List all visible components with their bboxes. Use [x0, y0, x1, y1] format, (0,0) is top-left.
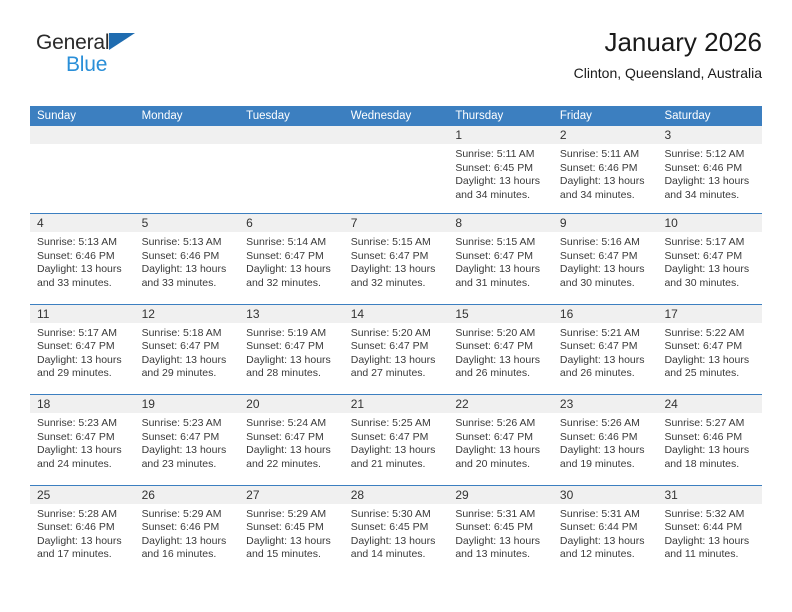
sunset-text: Sunset: 6:47 PM: [664, 340, 756, 354]
daylight-text-line2: and 12 minutes.: [560, 548, 652, 562]
day-number: 25: [30, 486, 135, 504]
week-row: 18Sunrise: 5:23 AMSunset: 6:47 PMDayligh…: [30, 394, 762, 485]
day-number-band: 14: [344, 305, 449, 323]
sunrise-text: Sunrise: 5:18 AM: [142, 327, 234, 341]
day-cell[interactable]: 8Sunrise: 5:15 AMSunset: 6:47 PMDaylight…: [448, 214, 553, 304]
sunrise-text: Sunrise: 5:28 AM: [37, 508, 129, 522]
day-number-band: 11: [30, 305, 135, 323]
day-cell[interactable]: 7Sunrise: 5:15 AMSunset: 6:47 PMDaylight…: [344, 214, 449, 304]
sunrise-text: Sunrise: 5:29 AM: [246, 508, 338, 522]
daylight-text-line1: Daylight: 13 hours: [246, 263, 338, 277]
sunset-text: Sunset: 6:47 PM: [455, 431, 547, 445]
day-details: Sunrise: 5:31 AMSunset: 6:44 PMDaylight:…: [553, 504, 658, 562]
sunrise-text: Sunrise: 5:13 AM: [37, 236, 129, 250]
day-number-band: 25: [30, 486, 135, 504]
sunset-text: Sunset: 6:46 PM: [142, 250, 234, 264]
day-cell[interactable]: 18Sunrise: 5:23 AMSunset: 6:47 PMDayligh…: [30, 395, 135, 485]
day-details: Sunrise: 5:11 AMSunset: 6:46 PMDaylight:…: [553, 144, 658, 202]
day-cell[interactable]: 15Sunrise: 5:20 AMSunset: 6:47 PMDayligh…: [448, 305, 553, 395]
sunrise-text: Sunrise: 5:23 AM: [142, 417, 234, 431]
daylight-text-line2: and 24 minutes.: [37, 458, 129, 472]
daylight-text-line2: and 31 minutes.: [455, 277, 547, 291]
day-number: 2: [553, 126, 658, 144]
daylight-text-line2: and 27 minutes.: [351, 367, 443, 381]
day-details: Sunrise: 5:14 AMSunset: 6:47 PMDaylight:…: [239, 232, 344, 290]
daylight-text-line1: Daylight: 13 hours: [455, 175, 547, 189]
sunset-text: Sunset: 6:47 PM: [142, 431, 234, 445]
sunset-text: Sunset: 6:47 PM: [351, 431, 443, 445]
day-cell[interactable]: 5Sunrise: 5:13 AMSunset: 6:46 PMDaylight…: [135, 214, 240, 304]
daylight-text-line1: Daylight: 13 hours: [246, 354, 338, 368]
day-cell[interactable]: 29Sunrise: 5:31 AMSunset: 6:45 PMDayligh…: [448, 486, 553, 576]
day-details: Sunrise: 5:30 AMSunset: 6:45 PMDaylight:…: [344, 504, 449, 562]
dow-monday: Monday: [135, 106, 240, 126]
daylight-text-line1: Daylight: 13 hours: [560, 175, 652, 189]
sunset-text: Sunset: 6:44 PM: [560, 521, 652, 535]
day-details: Sunrise: 5:20 AMSunset: 6:47 PMDaylight:…: [448, 323, 553, 381]
day-details: Sunrise: 5:17 AMSunset: 6:47 PMDaylight:…: [657, 232, 762, 290]
day-number: 14: [344, 305, 449, 323]
daylight-text-line1: Daylight: 13 hours: [351, 263, 443, 277]
daylight-text-line1: Daylight: 13 hours: [142, 354, 234, 368]
day-cell[interactable]: 21Sunrise: 5:25 AMSunset: 6:47 PMDayligh…: [344, 395, 449, 485]
day-details: Sunrise: 5:19 AMSunset: 6:47 PMDaylight:…: [239, 323, 344, 381]
sunrise-text: Sunrise: 5:15 AM: [351, 236, 443, 250]
day-number: 10: [657, 214, 762, 232]
day-details: Sunrise: 5:25 AMSunset: 6:47 PMDaylight:…: [344, 413, 449, 471]
day-number-band: 9: [553, 214, 658, 232]
day-number-band: 19: [135, 395, 240, 413]
day-number-band: 30: [553, 486, 658, 504]
day-number-band: 4: [30, 214, 135, 232]
daylight-text-line2: and 30 minutes.: [664, 277, 756, 291]
day-cell[interactable]: 3Sunrise: 5:12 AMSunset: 6:46 PMDaylight…: [657, 126, 762, 213]
day-cell[interactable]: 22Sunrise: 5:26 AMSunset: 6:47 PMDayligh…: [448, 395, 553, 485]
day-cell[interactable]: 17Sunrise: 5:22 AMSunset: 6:47 PMDayligh…: [657, 305, 762, 395]
day-cell[interactable]: 23Sunrise: 5:26 AMSunset: 6:46 PMDayligh…: [553, 395, 658, 485]
sunrise-text: Sunrise: 5:26 AM: [560, 417, 652, 431]
sunrise-text: Sunrise: 5:20 AM: [351, 327, 443, 341]
day-number-band: 31: [657, 486, 762, 504]
day-cell[interactable]: 19Sunrise: 5:23 AMSunset: 6:47 PMDayligh…: [135, 395, 240, 485]
daylight-text-line1: Daylight: 13 hours: [351, 444, 443, 458]
day-number: 5: [135, 214, 240, 232]
day-number: 4: [30, 214, 135, 232]
day-number-band: 13: [239, 305, 344, 323]
sunrise-text: Sunrise: 5:30 AM: [351, 508, 443, 522]
day-number: 21: [344, 395, 449, 413]
day-number-band: [344, 126, 449, 144]
daylight-text-line1: Daylight: 13 hours: [142, 535, 234, 549]
day-number: 12: [135, 305, 240, 323]
day-details: Sunrise: 5:20 AMSunset: 6:47 PMDaylight:…: [344, 323, 449, 381]
day-cell[interactable]: 9Sunrise: 5:16 AMSunset: 6:47 PMDaylight…: [553, 214, 658, 304]
day-number: 23: [553, 395, 658, 413]
sunset-text: Sunset: 6:46 PM: [560, 162, 652, 176]
sunrise-text: Sunrise: 5:19 AM: [246, 327, 338, 341]
daylight-text-line2: and 29 minutes.: [37, 367, 129, 381]
day-details: Sunrise: 5:22 AMSunset: 6:47 PMDaylight:…: [657, 323, 762, 381]
sunset-text: Sunset: 6:45 PM: [455, 162, 547, 176]
sunset-text: Sunset: 6:45 PM: [246, 521, 338, 535]
daylight-text-line2: and 32 minutes.: [246, 277, 338, 291]
sunrise-text: Sunrise: 5:32 AM: [664, 508, 756, 522]
day-details: Sunrise: 5:15 AMSunset: 6:47 PMDaylight:…: [448, 232, 553, 290]
sunrise-text: Sunrise: 5:11 AM: [560, 148, 652, 162]
sunrise-text: Sunrise: 5:17 AM: [37, 327, 129, 341]
day-number: 15: [448, 305, 553, 323]
sunset-text: Sunset: 6:46 PM: [37, 521, 129, 535]
sunrise-text: Sunrise: 5:21 AM: [560, 327, 652, 341]
day-cell-empty: [239, 126, 344, 213]
sunset-text: Sunset: 6:46 PM: [560, 431, 652, 445]
day-cell[interactable]: 16Sunrise: 5:21 AMSunset: 6:47 PMDayligh…: [553, 305, 658, 395]
sunrise-text: Sunrise: 5:16 AM: [560, 236, 652, 250]
day-number: 8: [448, 214, 553, 232]
sunset-text: Sunset: 6:47 PM: [664, 250, 756, 264]
week-row: 25Sunrise: 5:28 AMSunset: 6:46 PMDayligh…: [30, 485, 762, 576]
logo-triangle-icon: [109, 33, 135, 50]
day-details: Sunrise: 5:26 AMSunset: 6:47 PMDaylight:…: [448, 413, 553, 471]
day-number: 6: [239, 214, 344, 232]
daylight-text-line1: Daylight: 13 hours: [142, 263, 234, 277]
sunrise-text: Sunrise: 5:17 AM: [664, 236, 756, 250]
sunrise-text: Sunrise: 5:11 AM: [455, 148, 547, 162]
day-cell[interactable]: 27Sunrise: 5:29 AMSunset: 6:45 PMDayligh…: [239, 486, 344, 576]
day-details: Sunrise: 5:18 AMSunset: 6:47 PMDaylight:…: [135, 323, 240, 381]
sunrise-text: Sunrise: 5:26 AM: [455, 417, 547, 431]
daylight-text-line1: Daylight: 13 hours: [664, 444, 756, 458]
sunrise-text: Sunrise: 5:25 AM: [351, 417, 443, 431]
daylight-text-line1: Daylight: 13 hours: [37, 263, 129, 277]
day-details: Sunrise: 5:11 AMSunset: 6:45 PMDaylight:…: [448, 144, 553, 202]
day-cell[interactable]: 12Sunrise: 5:18 AMSunset: 6:47 PMDayligh…: [135, 305, 240, 395]
daylight-text-line1: Daylight: 13 hours: [455, 535, 547, 549]
sunrise-text: Sunrise: 5:27 AM: [664, 417, 756, 431]
sunset-text: Sunset: 6:47 PM: [37, 431, 129, 445]
day-details: Sunrise: 5:15 AMSunset: 6:47 PMDaylight:…: [344, 232, 449, 290]
sunset-text: Sunset: 6:47 PM: [560, 340, 652, 354]
day-number-band: 1: [448, 126, 553, 144]
daylight-text-line1: Daylight: 13 hours: [560, 535, 652, 549]
day-number-band: 26: [135, 486, 240, 504]
daylight-text-line2: and 29 minutes.: [142, 367, 234, 381]
day-cell[interactable]: 28Sunrise: 5:30 AMSunset: 6:45 PMDayligh…: [344, 486, 449, 576]
day-details: Sunrise: 5:31 AMSunset: 6:45 PMDaylight:…: [448, 504, 553, 562]
location-subtitle: Clinton, Queensland, Australia: [574, 64, 762, 83]
day-cell[interactable]: 13Sunrise: 5:19 AMSunset: 6:47 PMDayligh…: [239, 305, 344, 395]
daylight-text-line2: and 16 minutes.: [142, 548, 234, 562]
daylight-text-line1: Daylight: 13 hours: [560, 263, 652, 277]
day-cell[interactable]: 25Sunrise: 5:28 AMSunset: 6:46 PMDayligh…: [30, 486, 135, 576]
day-details: Sunrise: 5:29 AMSunset: 6:45 PMDaylight:…: [239, 504, 344, 562]
day-of-week-header: Sunday Monday Tuesday Wednesday Thursday…: [30, 106, 762, 126]
dow-wednesday: Wednesday: [344, 106, 449, 126]
day-number: 27: [239, 486, 344, 504]
sunset-text: Sunset: 6:47 PM: [351, 250, 443, 264]
day-details: Sunrise: 5:32 AMSunset: 6:44 PMDaylight:…: [657, 504, 762, 562]
daylight-text-line2: and 30 minutes.: [560, 277, 652, 291]
daylight-text-line2: and 21 minutes.: [351, 458, 443, 472]
daylight-text-line1: Daylight: 13 hours: [664, 175, 756, 189]
sunset-text: Sunset: 6:47 PM: [246, 340, 338, 354]
daylight-text-line2: and 32 minutes.: [351, 277, 443, 291]
daylight-text-line2: and 13 minutes.: [455, 548, 547, 562]
day-number: 13: [239, 305, 344, 323]
daylight-text-line2: and 18 minutes.: [664, 458, 756, 472]
day-cell[interactable]: 11Sunrise: 5:17 AMSunset: 6:47 PMDayligh…: [30, 305, 135, 395]
sunrise-text: Sunrise: 5:31 AM: [455, 508, 547, 522]
day-number-band: 12: [135, 305, 240, 323]
daylight-text-line2: and 34 minutes.: [664, 189, 756, 203]
day-number-band: 21: [344, 395, 449, 413]
sunset-text: Sunset: 6:47 PM: [560, 250, 652, 264]
daylight-text-line1: Daylight: 13 hours: [560, 354, 652, 368]
day-number-band: 16: [553, 305, 658, 323]
day-number: 3: [657, 126, 762, 144]
day-number-band: 20: [239, 395, 344, 413]
daylight-text-line1: Daylight: 13 hours: [664, 354, 756, 368]
day-number: 9: [553, 214, 658, 232]
day-number-band: 18: [30, 395, 135, 413]
day-cell-empty: [135, 126, 240, 213]
day-number: 11: [30, 305, 135, 323]
day-number-band: 7: [344, 214, 449, 232]
week-row: 11Sunrise: 5:17 AMSunset: 6:47 PMDayligh…: [30, 304, 762, 395]
daylight-text-line1: Daylight: 13 hours: [560, 444, 652, 458]
day-details: Sunrise: 5:26 AMSunset: 6:46 PMDaylight:…: [553, 413, 658, 471]
daylight-text-line2: and 26 minutes.: [560, 367, 652, 381]
sunset-text: Sunset: 6:45 PM: [455, 521, 547, 535]
day-number-band: 3: [657, 126, 762, 144]
daylight-text-line2: and 26 minutes.: [455, 367, 547, 381]
daylight-text-line1: Daylight: 13 hours: [37, 444, 129, 458]
daylight-text-line1: Daylight: 13 hours: [455, 263, 547, 277]
title-block: January 2026 Clinton, Queensland, Austra…: [574, 26, 762, 83]
sunrise-text: Sunrise: 5:22 AM: [664, 327, 756, 341]
sunset-text: Sunset: 6:46 PM: [664, 431, 756, 445]
daylight-text-line1: Daylight: 13 hours: [351, 535, 443, 549]
sunset-text: Sunset: 6:44 PM: [664, 521, 756, 535]
sunset-text: Sunset: 6:47 PM: [351, 340, 443, 354]
day-number-band: 29: [448, 486, 553, 504]
daylight-text-line2: and 20 minutes.: [455, 458, 547, 472]
day-number-band: [239, 126, 344, 144]
calendar-grid: Sunday Monday Tuesday Wednesday Thursday…: [30, 106, 762, 575]
logo-text-general: General: [36, 31, 109, 54]
day-details: Sunrise: 5:12 AMSunset: 6:46 PMDaylight:…: [657, 144, 762, 202]
day-cell[interactable]: 14Sunrise: 5:20 AMSunset: 6:47 PMDayligh…: [344, 305, 449, 395]
day-cell-empty: [344, 126, 449, 213]
sunset-text: Sunset: 6:46 PM: [664, 162, 756, 176]
day-cell[interactable]: 24Sunrise: 5:27 AMSunset: 6:46 PMDayligh…: [657, 395, 762, 485]
day-number-band: [135, 126, 240, 144]
sunrise-text: Sunrise: 5:12 AM: [664, 148, 756, 162]
day-number: 19: [135, 395, 240, 413]
day-cell[interactable]: 6Sunrise: 5:14 AMSunset: 6:47 PMDaylight…: [239, 214, 344, 304]
daylight-text-line2: and 34 minutes.: [455, 189, 547, 203]
daylight-text-line2: and 33 minutes.: [37, 277, 129, 291]
day-number-band: 28: [344, 486, 449, 504]
day-number-band: 5: [135, 214, 240, 232]
calendar-page: General Blue January 2026 Clinton, Queen…: [0, 0, 792, 612]
daylight-text-line2: and 25 minutes.: [664, 367, 756, 381]
day-number: 16: [553, 305, 658, 323]
day-details: Sunrise: 5:23 AMSunset: 6:47 PMDaylight:…: [135, 413, 240, 471]
daylight-text-line2: and 11 minutes.: [664, 548, 756, 562]
dow-saturday: Saturday: [657, 106, 762, 126]
sunset-text: Sunset: 6:47 PM: [142, 340, 234, 354]
day-number: 20: [239, 395, 344, 413]
sunset-text: Sunset: 6:47 PM: [246, 250, 338, 264]
day-number: 17: [657, 305, 762, 323]
daylight-text-line1: Daylight: 13 hours: [455, 354, 547, 368]
day-number: 24: [657, 395, 762, 413]
day-cell[interactable]: 2Sunrise: 5:11 AMSunset: 6:46 PMDaylight…: [553, 126, 658, 213]
day-number-band: 8: [448, 214, 553, 232]
sunrise-text: Sunrise: 5:15 AM: [455, 236, 547, 250]
day-cell[interactable]: 31Sunrise: 5:32 AMSunset: 6:44 PMDayligh…: [657, 486, 762, 576]
logo-text-blue: Blue: [66, 54, 236, 76]
day-details: Sunrise: 5:28 AMSunset: 6:46 PMDaylight:…: [30, 504, 135, 562]
dow-thursday: Thursday: [448, 106, 553, 126]
week-row: 4Sunrise: 5:13 AMSunset: 6:46 PMDaylight…: [30, 213, 762, 304]
day-details: Sunrise: 5:16 AMSunset: 6:47 PMDaylight:…: [553, 232, 658, 290]
page-header: General Blue January 2026 Clinton, Queen…: [30, 26, 762, 98]
daylight-text-line2: and 17 minutes.: [37, 548, 129, 562]
day-number-band: 17: [657, 305, 762, 323]
sunrise-text: Sunrise: 5:23 AM: [37, 417, 129, 431]
daylight-text-line2: and 23 minutes.: [142, 458, 234, 472]
daylight-text-line2: and 19 minutes.: [560, 458, 652, 472]
day-number: 31: [657, 486, 762, 504]
day-cell[interactable]: 30Sunrise: 5:31 AMSunset: 6:44 PMDayligh…: [553, 486, 658, 576]
daylight-text-line1: Daylight: 13 hours: [142, 444, 234, 458]
day-cell[interactable]: 1Sunrise: 5:11 AMSunset: 6:45 PMDaylight…: [448, 126, 553, 213]
day-cell[interactable]: 10Sunrise: 5:17 AMSunset: 6:47 PMDayligh…: [657, 214, 762, 304]
daylight-text-line2: and 33 minutes.: [142, 277, 234, 291]
dow-sunday: Sunday: [30, 106, 135, 126]
day-number-band: 24: [657, 395, 762, 413]
day-details: Sunrise: 5:29 AMSunset: 6:46 PMDaylight:…: [135, 504, 240, 562]
day-number-band: 23: [553, 395, 658, 413]
day-cell[interactable]: 20Sunrise: 5:24 AMSunset: 6:47 PMDayligh…: [239, 395, 344, 485]
page-title: January 2026: [574, 26, 762, 58]
day-number: 22: [448, 395, 553, 413]
sunrise-text: Sunrise: 5:24 AM: [246, 417, 338, 431]
sunrise-text: Sunrise: 5:20 AM: [455, 327, 547, 341]
daylight-text-line1: Daylight: 13 hours: [664, 535, 756, 549]
daylight-text-line2: and 14 minutes.: [351, 548, 443, 562]
sunset-text: Sunset: 6:45 PM: [351, 521, 443, 535]
daylight-text-line1: Daylight: 13 hours: [246, 444, 338, 458]
calendar-weeks: 1Sunrise: 5:11 AMSunset: 6:45 PMDaylight…: [30, 126, 762, 575]
day-cell-empty: [30, 126, 135, 213]
day-number-band: 2: [553, 126, 658, 144]
day-number-band: 6: [239, 214, 344, 232]
daylight-text-line2: and 15 minutes.: [246, 548, 338, 562]
sunset-text: Sunset: 6:46 PM: [37, 250, 129, 264]
general-blue-logo[interactable]: General Blue: [36, 32, 236, 88]
day-number-band: 15: [448, 305, 553, 323]
sunset-text: Sunset: 6:47 PM: [455, 250, 547, 264]
daylight-text-line1: Daylight: 13 hours: [37, 535, 129, 549]
sunset-text: Sunset: 6:46 PM: [142, 521, 234, 535]
dow-friday: Friday: [553, 106, 658, 126]
day-cell[interactable]: 26Sunrise: 5:29 AMSunset: 6:46 PMDayligh…: [135, 486, 240, 576]
day-number: 26: [135, 486, 240, 504]
day-number-band: 10: [657, 214, 762, 232]
day-number: 7: [344, 214, 449, 232]
daylight-text-line2: and 22 minutes.: [246, 458, 338, 472]
sunrise-text: Sunrise: 5:31 AM: [560, 508, 652, 522]
daylight-text-line1: Daylight: 13 hours: [351, 354, 443, 368]
sunset-text: Sunset: 6:47 PM: [37, 340, 129, 354]
daylight-text-line1: Daylight: 13 hours: [37, 354, 129, 368]
day-cell[interactable]: 4Sunrise: 5:13 AMSunset: 6:46 PMDaylight…: [30, 214, 135, 304]
day-number: 28: [344, 486, 449, 504]
sunset-text: Sunset: 6:47 PM: [455, 340, 547, 354]
day-number: 1: [448, 126, 553, 144]
daylight-text-line1: Daylight: 13 hours: [664, 263, 756, 277]
day-details: Sunrise: 5:13 AMSunset: 6:46 PMDaylight:…: [30, 232, 135, 290]
logo-text-general-row: General: [36, 32, 236, 53]
day-number-band: [30, 126, 135, 144]
day-number-band: 27: [239, 486, 344, 504]
day-number-band: 22: [448, 395, 553, 413]
day-details: Sunrise: 5:13 AMSunset: 6:46 PMDaylight:…: [135, 232, 240, 290]
sunset-text: Sunset: 6:47 PM: [246, 431, 338, 445]
day-details: Sunrise: 5:23 AMSunset: 6:47 PMDaylight:…: [30, 413, 135, 471]
sunrise-text: Sunrise: 5:29 AM: [142, 508, 234, 522]
day-number: 30: [553, 486, 658, 504]
daylight-text-line2: and 34 minutes.: [560, 189, 652, 203]
day-details: Sunrise: 5:24 AMSunset: 6:47 PMDaylight:…: [239, 413, 344, 471]
daylight-text-line2: and 28 minutes.: [246, 367, 338, 381]
daylight-text-line1: Daylight: 13 hours: [455, 444, 547, 458]
day-details: Sunrise: 5:21 AMSunset: 6:47 PMDaylight:…: [553, 323, 658, 381]
day-details: Sunrise: 5:27 AMSunset: 6:46 PMDaylight:…: [657, 413, 762, 471]
day-number: 29: [448, 486, 553, 504]
day-details: Sunrise: 5:17 AMSunset: 6:47 PMDaylight:…: [30, 323, 135, 381]
dow-tuesday: Tuesday: [239, 106, 344, 126]
week-row: 1Sunrise: 5:11 AMSunset: 6:45 PMDaylight…: [30, 126, 762, 213]
daylight-text-line1: Daylight: 13 hours: [246, 535, 338, 549]
day-number: 18: [30, 395, 135, 413]
sunrise-text: Sunrise: 5:14 AM: [246, 236, 338, 250]
sunrise-text: Sunrise: 5:13 AM: [142, 236, 234, 250]
